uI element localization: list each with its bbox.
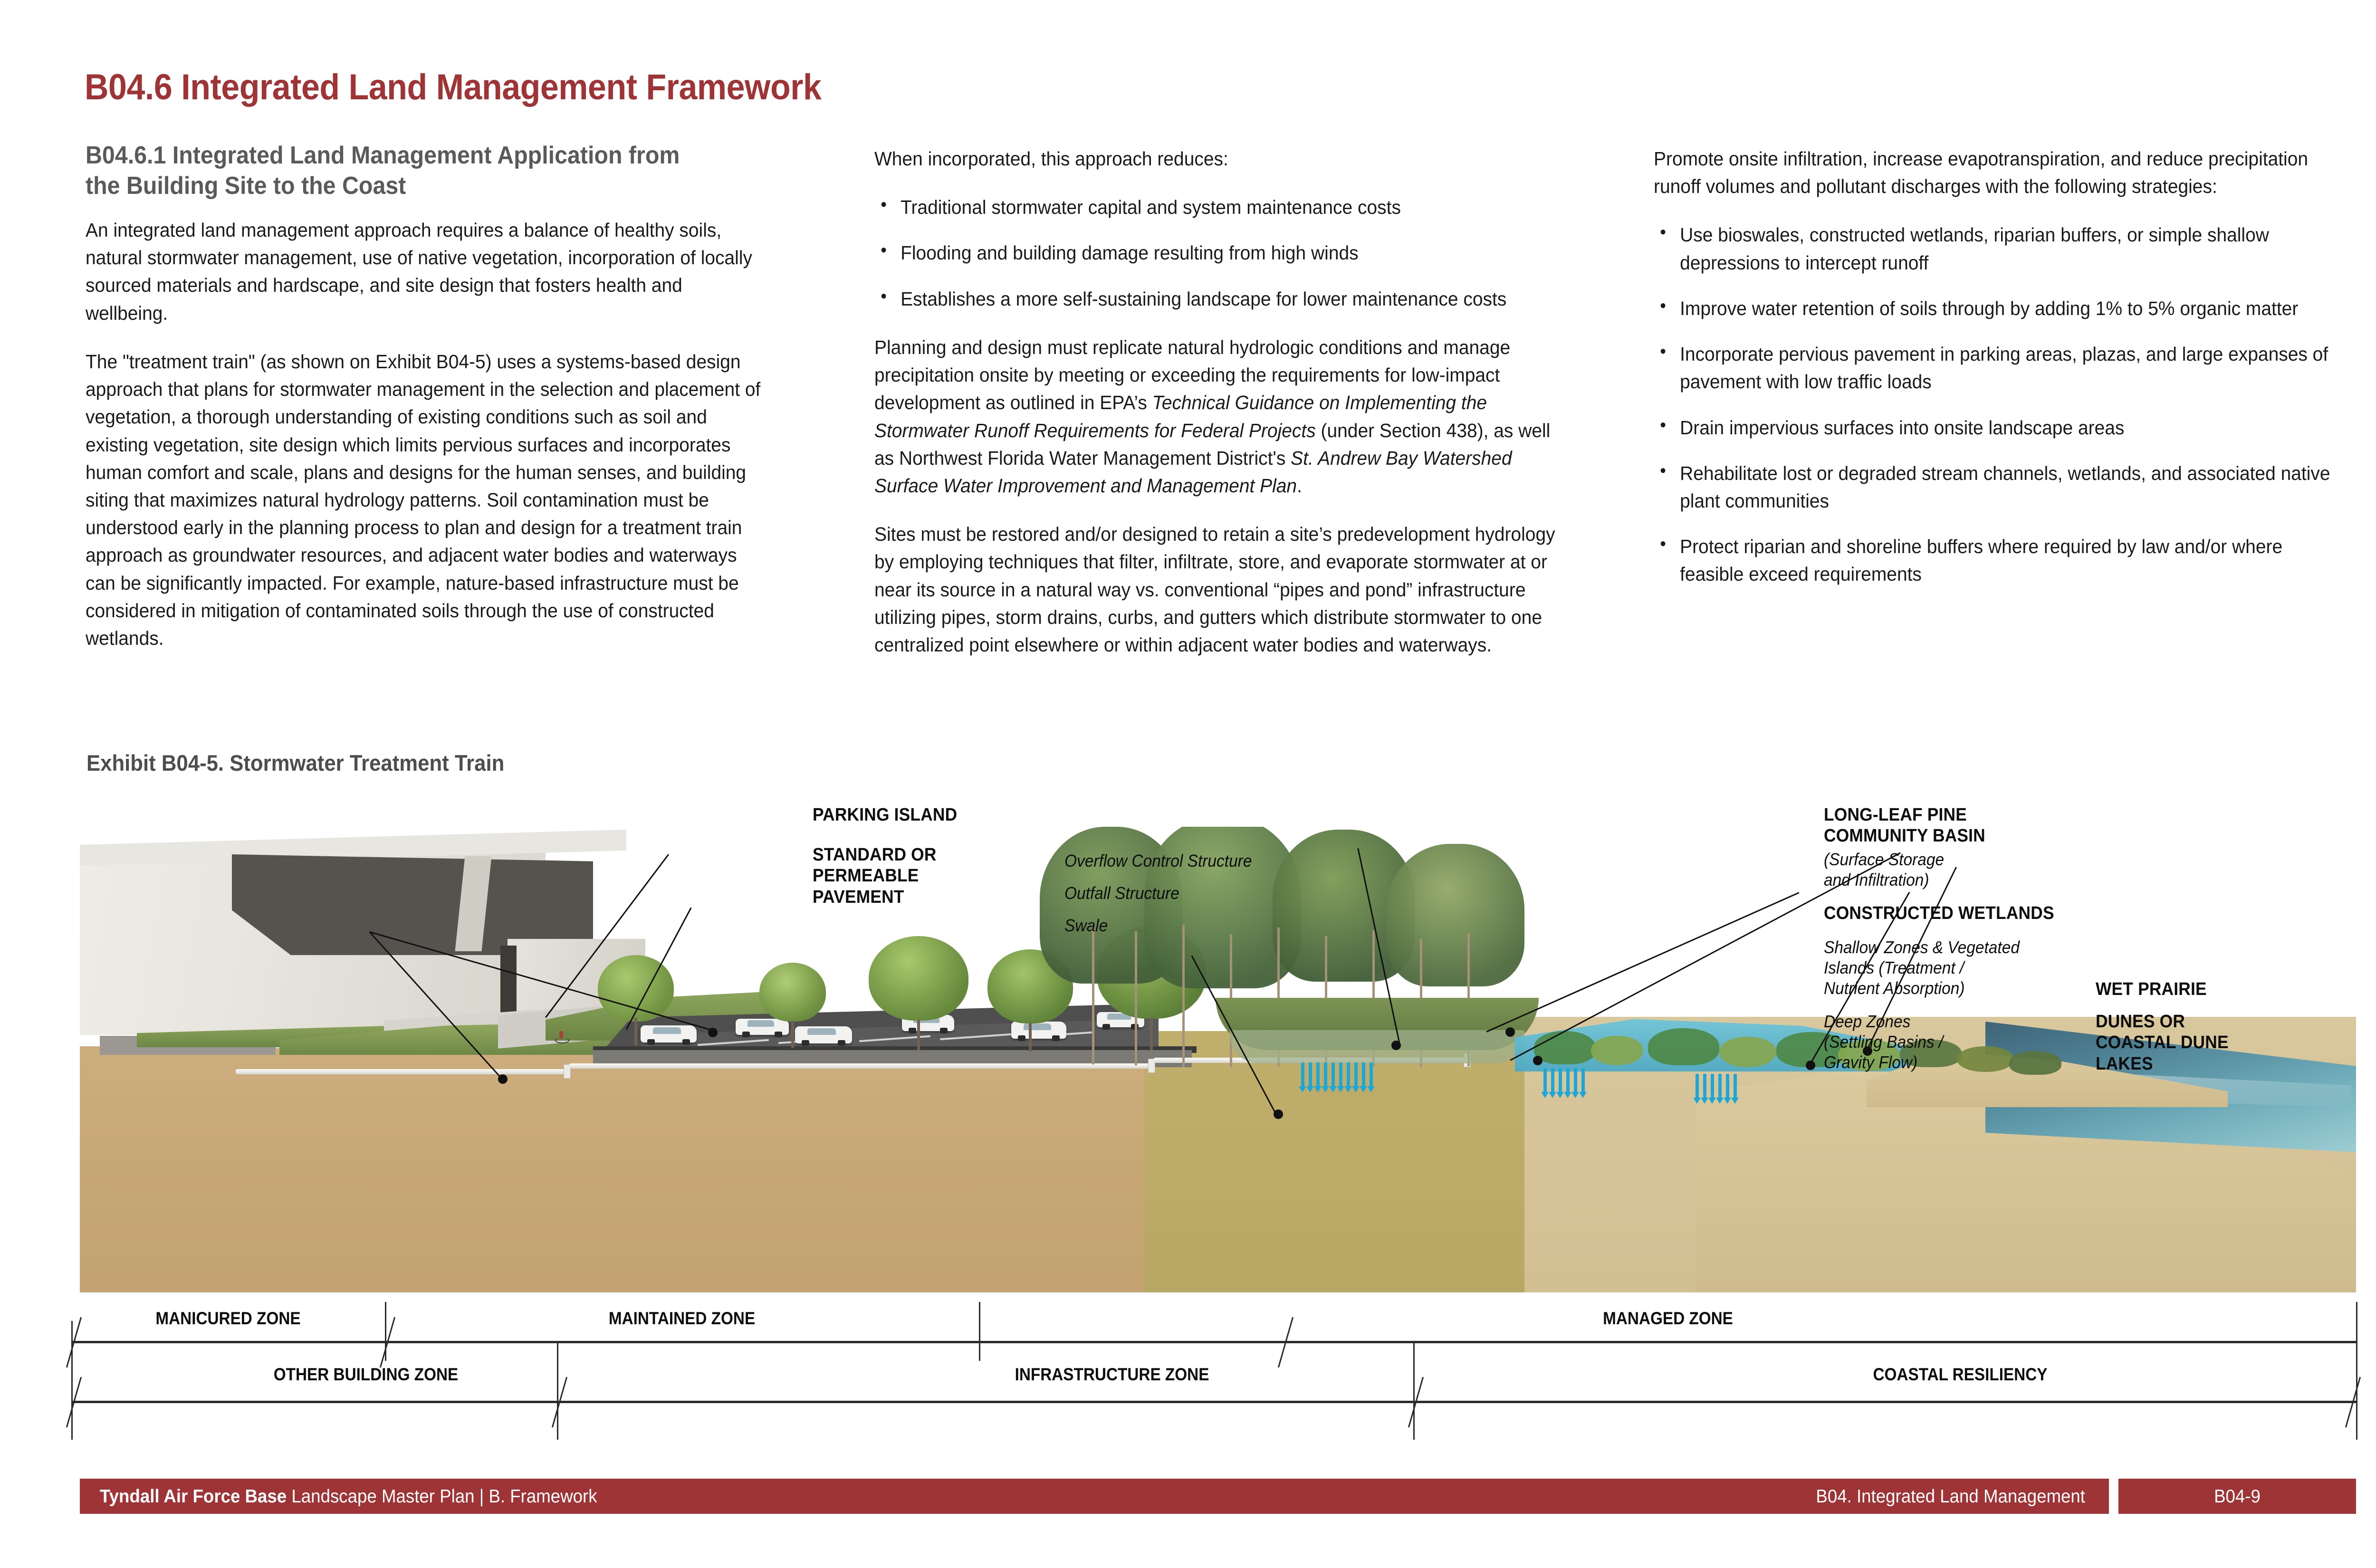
middle-column-body: When incorporated, this approach reduces… xyxy=(874,145,1556,659)
list-item: Drain impervious surfaces into onsite la… xyxy=(1654,414,2331,441)
list-item: Improve water retention of soils through… xyxy=(1654,295,2331,322)
footer-page-number: B04-9 xyxy=(2126,1486,2349,1507)
zone-label-coastal-resiliency: COASTAL RESILIENCY xyxy=(1603,1365,2318,1385)
zone-bracket-diagram: MANICURED ZONE MAINTAINED ZONE MANAGED Z… xyxy=(71,1302,2357,1440)
wetland-vegetation xyxy=(1719,1037,1776,1067)
callout-constructed-wetlands: CONSTRUCTED WETLANDS xyxy=(1824,903,2054,924)
middle-paragraph-2: Planning and design must replicate natur… xyxy=(874,334,1556,499)
list-item: Establishes a more self-sustaining lands… xyxy=(874,285,1556,313)
list-item: Rehabilitate lost or degraded stream cha… xyxy=(1654,459,2331,515)
zone-tick xyxy=(1413,1341,1415,1440)
infiltration-arrows xyxy=(1301,1062,1373,1087)
infiltration-arrow xyxy=(1370,1062,1373,1087)
pine-trunk xyxy=(1135,931,1137,1065)
zone-label-infrastructure: INFRASTRUCTURE ZONE xyxy=(706,1365,1518,1385)
infiltration-arrow xyxy=(1711,1074,1714,1099)
leader-dot xyxy=(1505,1027,1515,1037)
storm-pipe xyxy=(236,1069,568,1074)
tree-trunk xyxy=(917,1020,920,1050)
community-basin-infiltration-bed xyxy=(1230,1030,1524,1063)
zone-tick xyxy=(71,1341,73,1440)
leader-dot xyxy=(1391,1041,1401,1050)
infiltration-arrow xyxy=(1581,1068,1585,1093)
tree-canopy xyxy=(759,963,826,1022)
callout-shallow-zones: Shallow Zones & Vegetated Islands (Treat… xyxy=(1824,937,2020,999)
infiltration-arrow xyxy=(1566,1068,1570,1093)
car-wheel xyxy=(742,1032,750,1037)
middle-paragraph-3: Sites must be restored and/or designed t… xyxy=(874,520,1556,659)
callout-overflow-control-structure: Overflow Control Structure xyxy=(1064,851,1252,871)
callout-parking-island: PARKING ISLAND xyxy=(813,804,957,825)
person xyxy=(559,1031,563,1039)
infiltration-arrow xyxy=(1362,1062,1365,1087)
infiltration-arrow xyxy=(1324,1062,1327,1087)
leader-dot xyxy=(498,1074,508,1084)
left-paragraph-1: An integrated land management approach r… xyxy=(86,216,763,327)
car-wheel xyxy=(838,1040,845,1046)
list-item: Use bioswales, constructed wetlands, rip… xyxy=(1654,221,2331,276)
infiltration-arrow xyxy=(1574,1068,1577,1093)
tree-trunk xyxy=(634,1018,637,1045)
infiltration-arrows xyxy=(1696,1074,1737,1099)
infiltration-arrow xyxy=(1309,1062,1312,1087)
car-wheel xyxy=(682,1039,690,1045)
infiltration-arrow xyxy=(1718,1074,1722,1099)
leader-dot xyxy=(1274,1109,1283,1119)
infiltration-arrow xyxy=(1316,1062,1320,1087)
callout-long-leaf-pine-community-basin: LONG-LEAF PINE COMMUNITY BASIN xyxy=(1824,804,1985,847)
tree-trunk xyxy=(791,1021,794,1048)
shade-tree xyxy=(759,963,826,1048)
soil-stratum-sandy xyxy=(80,1046,1149,1292)
wetland-vegetation xyxy=(1591,1036,1643,1065)
zone-label-managed: MANAGED ZONE xyxy=(1048,1309,2288,1329)
zone-tick xyxy=(979,1302,980,1361)
callout-long-leaf-pine-community-basin-sub: (Surface Storage and Infiltration) xyxy=(1824,849,1944,890)
callout-deep-zones: Deep Zones (Settling Basins / Gravity Fl… xyxy=(1824,1011,1943,1073)
leader-dot xyxy=(1806,1061,1815,1070)
infiltration-arrow xyxy=(1559,1068,1562,1093)
page-footer: Tyndall Air Force Base Landscape Master … xyxy=(80,1479,2356,1514)
shade-tree xyxy=(869,936,968,1050)
pine-trunk xyxy=(1092,927,1094,1064)
infiltration-arrow xyxy=(1543,1068,1547,1093)
footer-chapter: B04. Integrated Land Management xyxy=(1451,1486,2085,1507)
zone-label-manicured: MANICURED ZONE xyxy=(87,1309,369,1329)
zone-divider-upper xyxy=(71,1341,2357,1343)
list-item: Flooding and building damage resulting f… xyxy=(874,239,1556,267)
infiltration-arrow xyxy=(1339,1062,1342,1087)
middle-bullet-list: Traditional stormwater capital and syste… xyxy=(874,193,1556,313)
right-bullet-list: Use bioswales, constructed wetlands, rip… xyxy=(1654,221,2331,588)
middle-intro: When incorporated, this approach reduces… xyxy=(874,145,1556,172)
infiltration-arrow xyxy=(1551,1068,1554,1093)
left-paragraph-2: The "treatment train" (as shown on Exhib… xyxy=(86,348,763,652)
mp2-part3: . xyxy=(1297,475,1302,497)
leader-dot xyxy=(1533,1056,1542,1065)
cyclist xyxy=(555,1031,567,1043)
left-column-body: An integrated land management approach r… xyxy=(86,216,763,652)
list-item: Protect riparian and shoreline buffers w… xyxy=(1654,533,2331,588)
tree-canopy xyxy=(869,936,968,1021)
footer-base-name: Tyndall Air Force Base xyxy=(100,1486,287,1507)
dune-vegetation xyxy=(2009,1051,2061,1075)
infiltration-arrows xyxy=(1543,1068,1585,1093)
exhibit-title: Exhibit B04-5. Stormwater Treatment Trai… xyxy=(86,750,504,776)
wetland-vegetation xyxy=(1534,1031,1596,1064)
infiltration-arrow xyxy=(1332,1062,1335,1087)
document-page: B04.6 Integrated Land Management Framewo… xyxy=(0,0,2376,1568)
infiltration-arrow xyxy=(1301,1062,1304,1087)
infiltration-arrow xyxy=(1696,1074,1699,1099)
infiltration-arrow xyxy=(1726,1074,1729,1099)
page-title: B04.6 Integrated Land Management Framewo… xyxy=(85,67,821,108)
infiltration-arrow xyxy=(1354,1062,1358,1087)
callout-swale: Swale xyxy=(1064,915,1108,936)
callout-outfall-structure: Outfall Structure xyxy=(1064,883,1179,903)
wetland-vegetation xyxy=(1648,1028,1719,1065)
footer-document-title: Tyndall Air Force Base Landscape Master … xyxy=(100,1486,1440,1507)
zone-label-other-building: OTHER BUILDING ZONE xyxy=(101,1365,631,1385)
zone-divider-lower xyxy=(71,1401,2357,1403)
infiltration-arrow xyxy=(1347,1062,1350,1087)
callout-wet-prairie: WET PRAIRIE xyxy=(2096,979,2207,1000)
pine-canopy xyxy=(1387,844,1524,986)
zone-tick xyxy=(557,1341,558,1440)
right-column-body: Promote onsite infiltration, increase ev… xyxy=(1654,145,2331,588)
exhibit-illustration xyxy=(80,827,2356,1292)
right-intro: Promote onsite infiltration, increase ev… xyxy=(1654,145,2331,200)
list-item: Traditional stormwater capital and syste… xyxy=(874,193,1556,221)
infiltration-arrow xyxy=(1703,1074,1706,1099)
infiltration-arrow xyxy=(1734,1074,1737,1099)
leader-dot xyxy=(708,1028,718,1037)
footer-doc-name: Landscape Master Plan | B. Framework xyxy=(287,1486,597,1507)
callout-dunes-or-coastal-dune-lakes: DUNES OR COASTAL DUNE LAKES xyxy=(2096,1011,2229,1074)
dune-vegetation xyxy=(1957,1046,2014,1072)
list-item: Incorporate pervious pavement in parking… xyxy=(1654,340,2331,395)
callout-standard-or-permeable-pavement: STANDARD OR PERMEABLE PAVEMENT xyxy=(813,844,937,908)
zone-label-maintained: MAINTAINED ZONE xyxy=(415,1309,949,1329)
section-subheading: B04.6.1 Integrated Land Management Appli… xyxy=(86,140,718,201)
pine-trunk xyxy=(1182,925,1185,1067)
